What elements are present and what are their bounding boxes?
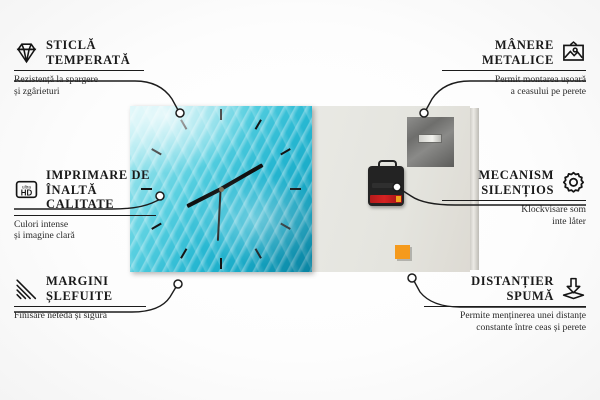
infographic-canvas: STICLĂ TEMPERATĂ Rezistență la spargere … xyxy=(0,0,600,400)
sub-line-1: Permite menținerea unei distanțe xyxy=(460,310,586,321)
sub-line-1: Klockvisare som xyxy=(521,204,586,215)
title-line-2: METALICE xyxy=(482,53,554,67)
callout-header: MARGINI ȘLEFUITE xyxy=(14,274,146,303)
sub-line-2: inte låter xyxy=(552,216,586,227)
sub-line-2: și imagine clară xyxy=(14,230,75,241)
callout-high-quality-print: ultra HD IMPRIMARE DE ÎNALTĂ CALITATE Cu… xyxy=(14,168,156,242)
callout-foam-spacer: DISTANȚIER SPUMĂ Permite menținerea unei… xyxy=(424,274,586,333)
callout-title: MARGINI ȘLEFUITE xyxy=(46,274,113,303)
callout-silent-mechanism: MECANISM SILENȚIOS Klockvisare som inte … xyxy=(442,168,586,227)
title-line-1: MÂNERE xyxy=(495,38,554,52)
callout-metal-handles: MÂNERE METALICE Permit montarea ușoară a… xyxy=(442,38,586,97)
callout-header: STICLĂ TEMPERATĂ xyxy=(14,38,144,67)
callout-subtitle: Permite menținerea unei distanțe constan… xyxy=(424,310,586,333)
marker-dot-mechanism xyxy=(393,183,401,191)
callout-tempered-glass: STICLĂ TEMPERATĂ Rezistență la spargere … xyxy=(14,38,144,97)
diamond-icon xyxy=(14,40,39,65)
title-line-1: STICLĂ xyxy=(46,38,96,52)
callout-rule xyxy=(14,70,144,71)
sub-line-2: și zgârieturi xyxy=(14,86,60,97)
callout-subtitle: Permit montarea ușoară a ceasului pe per… xyxy=(442,74,586,97)
sub-line-1: Permit montarea ușoară xyxy=(495,74,586,85)
marker-dot-print xyxy=(156,192,164,200)
title-line-2: ȘLEFUITE xyxy=(46,289,113,303)
callout-header: ultra HD IMPRIMARE DE ÎNALTĂ CALITATE xyxy=(14,168,156,212)
gear-icon xyxy=(561,170,586,195)
callout-rule xyxy=(442,200,586,201)
callout-polished-edges: MARGINI ȘLEFUITE Finisare netedă și sigu… xyxy=(14,274,146,322)
title-line-2: TEMPERATĂ xyxy=(46,53,130,67)
marker-dot-edges xyxy=(174,280,182,288)
callout-header: DISTANȚIER SPUMĂ xyxy=(424,274,586,303)
title-line-1: IMPRIMARE DE xyxy=(46,168,150,182)
callout-rule xyxy=(442,70,586,71)
callout-subtitle: Klockvisare som inte låter xyxy=(442,204,586,227)
sub-line-1: Culori intense xyxy=(14,219,68,230)
svg-text:HD: HD xyxy=(21,189,33,198)
callout-rule xyxy=(14,306,146,307)
sub-line-1: Rezistență la spargere xyxy=(14,74,98,85)
callout-title: MECANISM SILENȚIOS xyxy=(478,168,554,197)
callout-title: MÂNERE METALICE xyxy=(482,38,554,67)
callout-rule xyxy=(424,306,586,307)
sub-line-2: constante între ceas și perete xyxy=(476,322,586,333)
picture-frame-icon xyxy=(561,40,586,65)
title-line-1: MECANISM xyxy=(478,168,554,182)
marker-dot-handles xyxy=(420,109,428,117)
title-line-2: SILENȚIOS xyxy=(481,183,554,197)
title-line-1: DISTANȚIER xyxy=(471,274,554,288)
sub-line-2: a ceasului pe perete xyxy=(511,86,586,97)
marker-dot-tempered-glass xyxy=(176,109,184,117)
title-line-1: MARGINI xyxy=(46,274,109,288)
callout-header: MÂNERE METALICE xyxy=(442,38,586,67)
callout-subtitle: Rezistență la spargere și zgârieturi xyxy=(14,74,144,97)
callout-title: IMPRIMARE DE ÎNALTĂ CALITATE xyxy=(46,168,156,212)
sub-line-1: Finisare netedă și sigură xyxy=(14,310,107,321)
polished-edges-icon xyxy=(14,276,39,301)
callout-header: MECANISM SILENȚIOS xyxy=(442,168,586,197)
callout-title: STICLĂ TEMPERATĂ xyxy=(46,38,130,67)
callout-subtitle: Finisare netedă și sigură xyxy=(14,310,146,322)
marker-dot-spacer xyxy=(408,274,416,282)
callout-title: DISTANȚIER SPUMĂ xyxy=(471,274,554,303)
callout-subtitle: Culori intense și imagine clară xyxy=(14,219,156,242)
title-line-2: ÎNALTĂ CALITATE xyxy=(46,183,114,212)
ultra-hd-icon: ultra HD xyxy=(14,177,39,202)
callout-rule xyxy=(14,215,156,216)
title-line-2: SPUMĂ xyxy=(507,289,554,303)
down-arrow-pad-icon xyxy=(561,276,586,301)
